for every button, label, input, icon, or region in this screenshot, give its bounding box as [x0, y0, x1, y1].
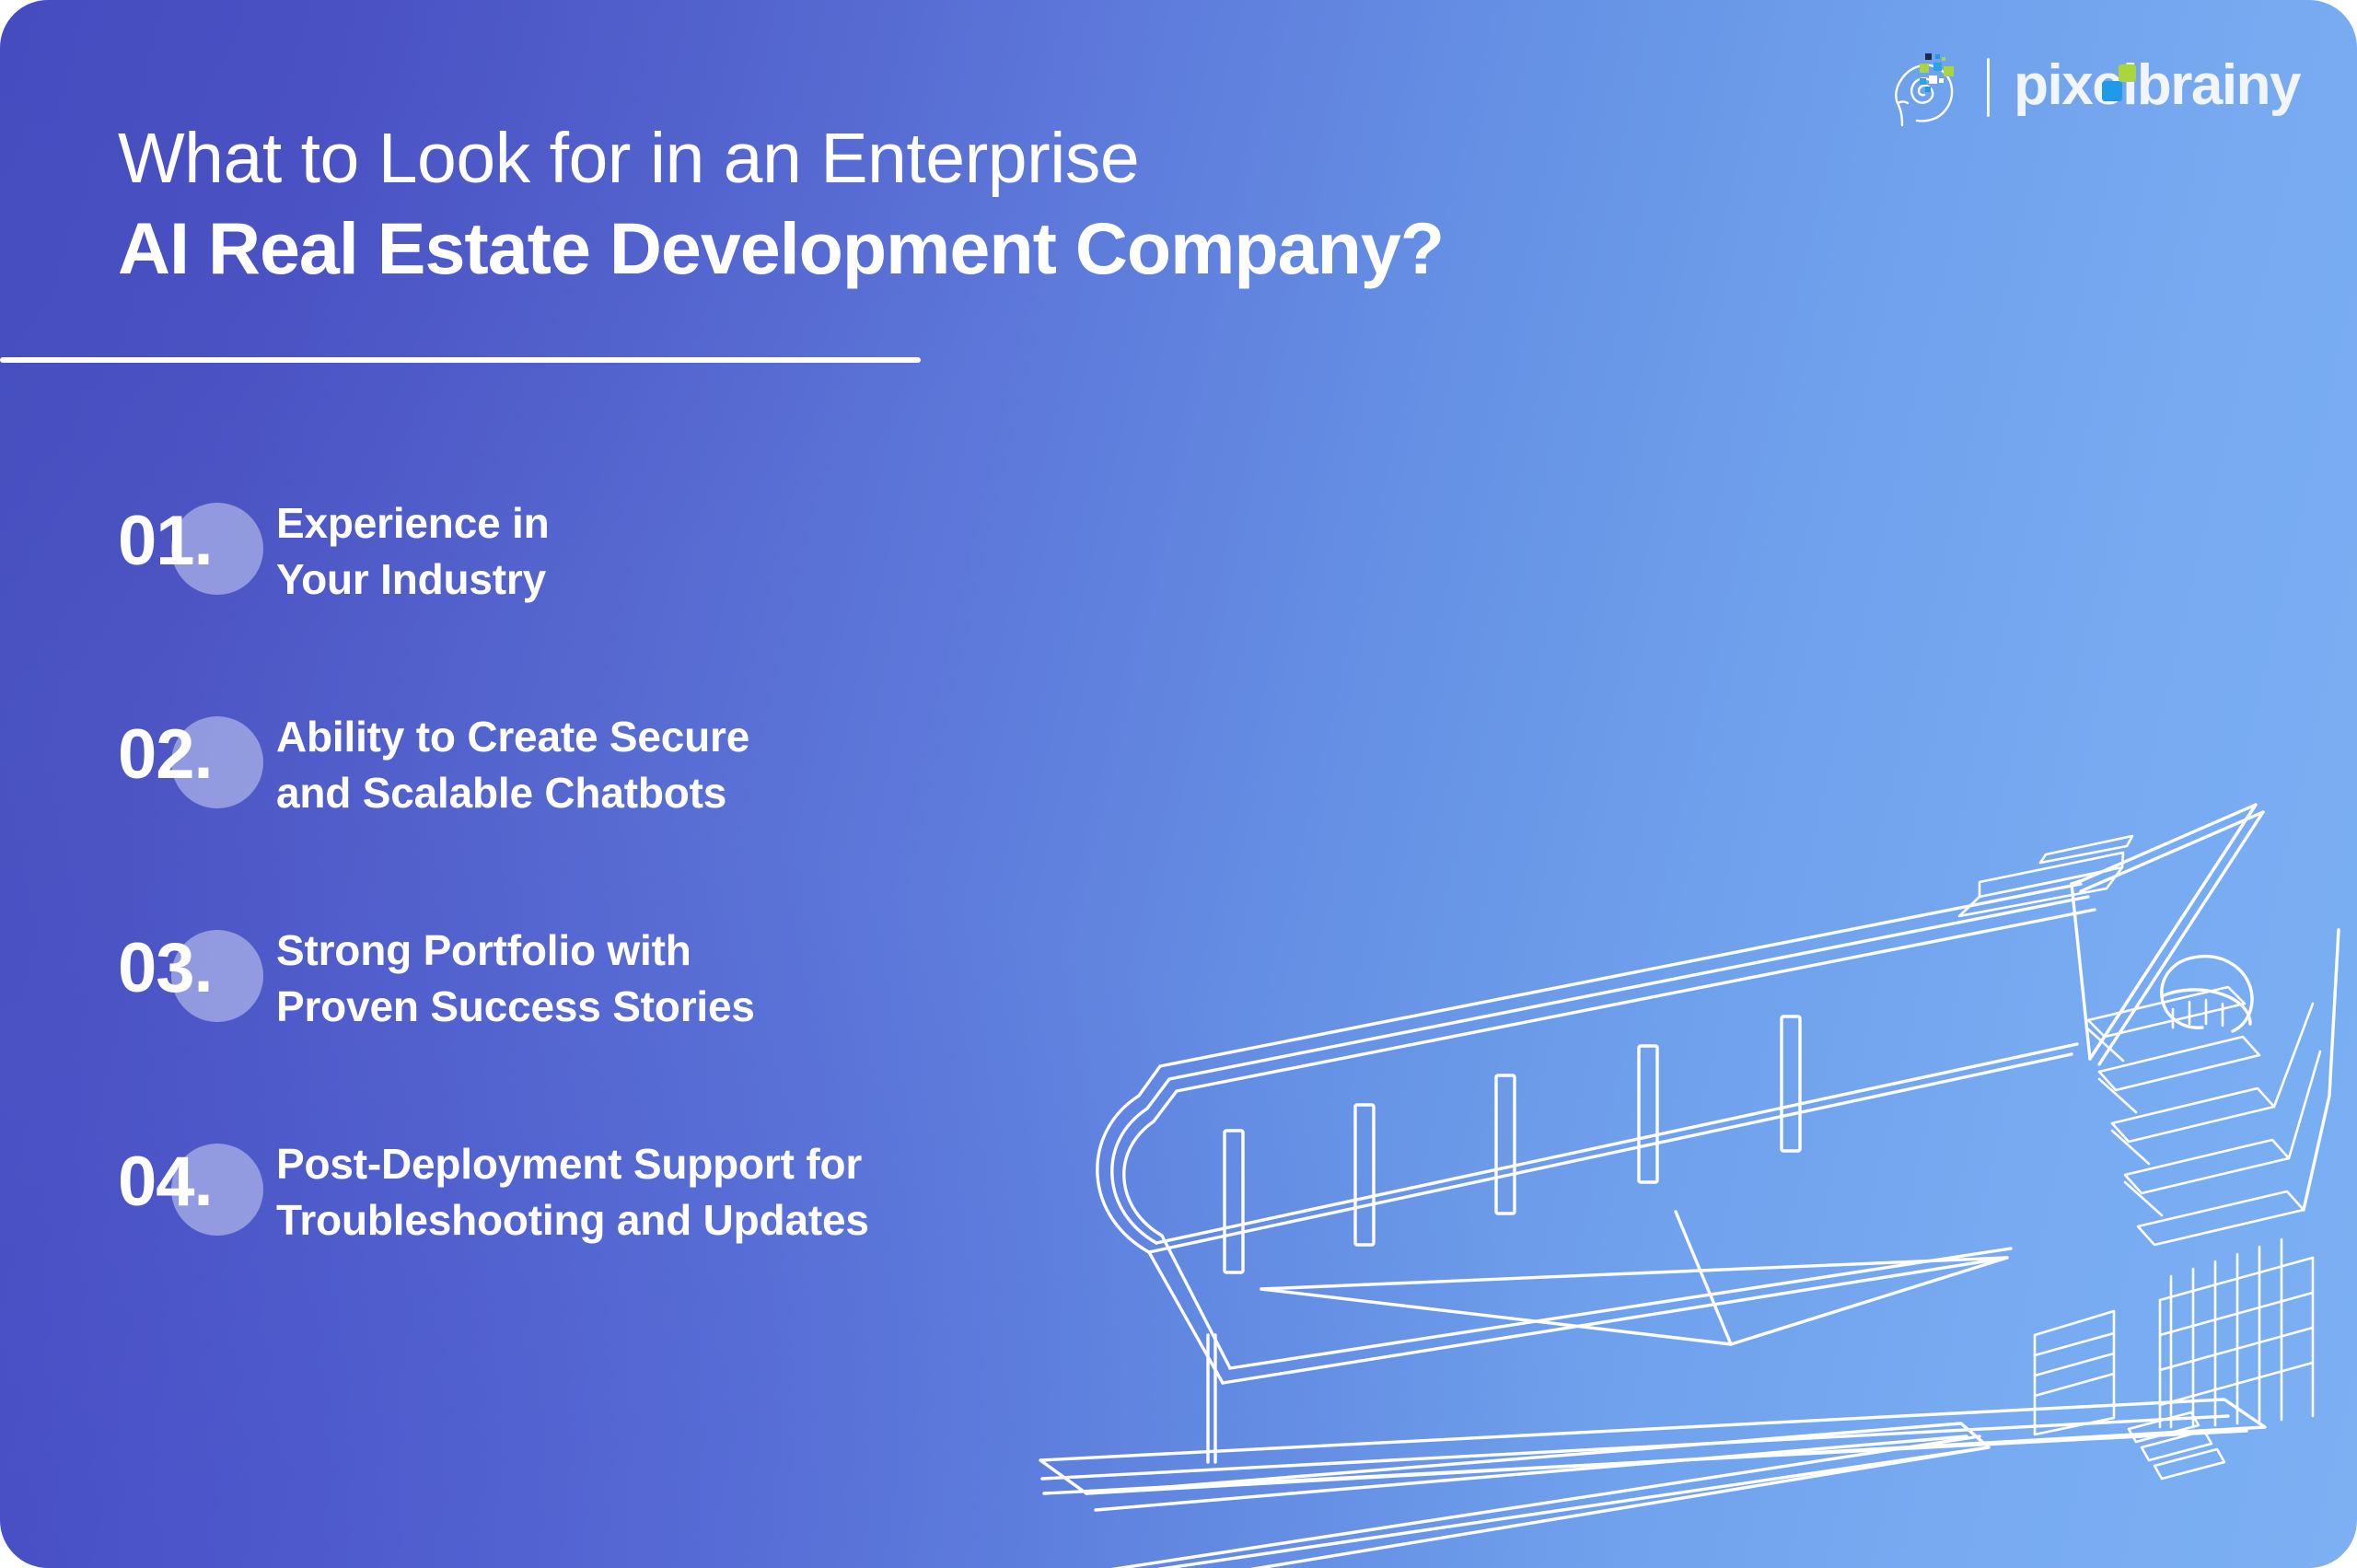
item-label-line-2: Proven Success Stories — [276, 979, 755, 1035]
brain-head-spiral-icon — [1895, 48, 1963, 127]
item-label-line-1: Ability to Create Secure — [276, 709, 749, 765]
item-label-line-1: Post-Deployment Support for — [276, 1136, 869, 1192]
item-label: Strong Portfolio with Proven Success Sto… — [265, 913, 755, 1035]
item-label-line-2: Troubleshooting and Updates — [276, 1192, 869, 1249]
item-label: Experience in Your Industry — [265, 486, 550, 608]
item-number-group: 01. — [118, 486, 265, 576]
brand-name: pixelbrainy — [2014, 57, 2300, 118]
checklist: 01. Experience in Your Industry 02. Abil… — [118, 486, 1167, 1341]
list-item: 04. Post-Deployment Support for Troubles… — [118, 1127, 1167, 1341]
list-item: 01. Experience in Your Industry — [118, 486, 1167, 700]
item-label: Ability to Create Secure and Scalable Ch… — [265, 700, 749, 821]
item-number-group: 03. — [118, 913, 265, 1004]
logo-blue-square-icon — [2102, 81, 2122, 101]
title-line-1: What to Look for in an Enterprise — [118, 118, 1444, 200]
infographic-card: pixelbrainy What to Look for in an Enter… — [0, 0, 2357, 1568]
list-item: 02. Ability to Create Secure and Scalabl… — [118, 700, 1167, 913]
item-label: Post-Deployment Support for Troubleshoot… — [265, 1127, 869, 1249]
item-number-group: 02. — [118, 700, 265, 790]
logo-divider — [1987, 58, 1990, 117]
item-label-line-1: Experience in — [276, 495, 550, 552]
title-divider-rule — [0, 357, 921, 363]
logo-green-square-icon — [2119, 64, 2136, 82]
item-number: 04. — [118, 1147, 213, 1217]
item-number-group: 04. — [118, 1127, 265, 1217]
item-number: 01. — [118, 506, 213, 576]
item-number: 02. — [118, 720, 213, 790]
item-number: 03. — [118, 934, 213, 1004]
page-title: What to Look for in an Enterprise AI Rea… — [118, 118, 1444, 292]
brand-logo[interactable]: pixelbrainy — [1895, 48, 2300, 127]
modern-building-line-art-illustration — [1031, 700, 2357, 1568]
item-label-line-2: Your Industry — [276, 552, 550, 608]
brand-name-text: pixelbrainy — [2014, 53, 2300, 117]
item-label-line-2: and Scalable Chatbots — [276, 765, 749, 821]
title-line-2: AI Real Estate Development Company? — [118, 205, 1444, 291]
item-label-line-1: Strong Portfolio with — [276, 923, 755, 979]
list-item: 03. Strong Portfolio with Proven Success… — [118, 913, 1167, 1127]
